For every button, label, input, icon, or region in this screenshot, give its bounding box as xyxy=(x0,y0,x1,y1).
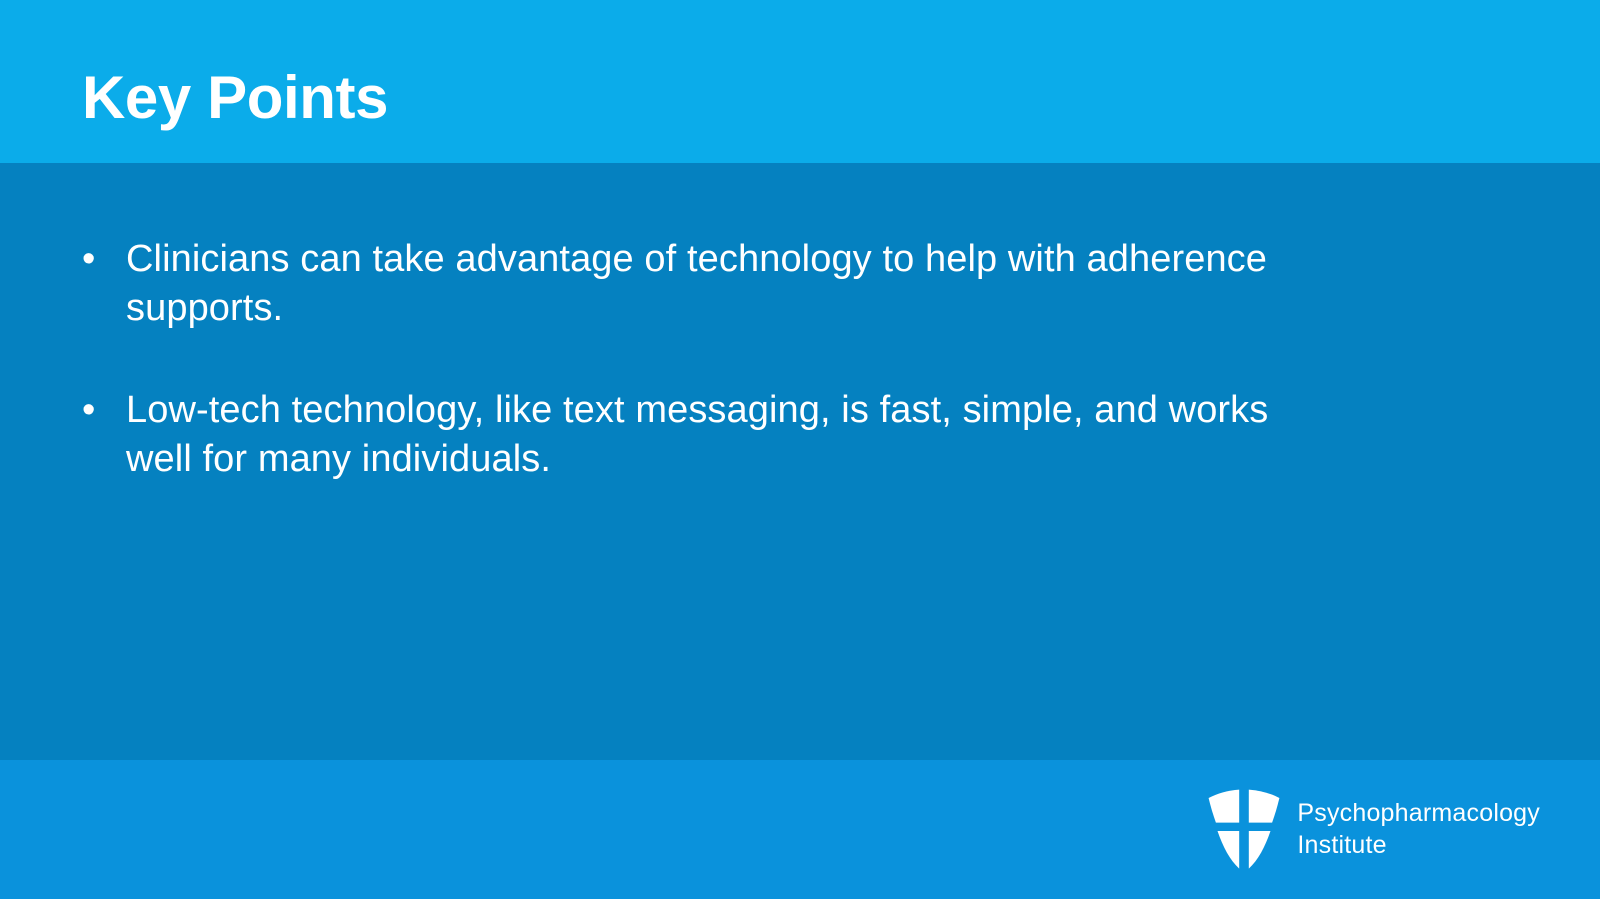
slide-footer: Psychopharmacology Institute xyxy=(0,760,1600,899)
brand-name-line-1: Psychopharmacology xyxy=(1297,797,1540,829)
slide-header: Key Points xyxy=(0,0,1600,163)
page-title: Key Points xyxy=(82,68,388,128)
list-item: • Clinicians can take advantage of techn… xyxy=(0,235,1320,333)
list-item: • Low-tech technology, like text messagi… xyxy=(0,386,1320,484)
bullet-point-icon: • xyxy=(82,235,126,284)
slide: Key Points • Clinicians can take advanta… xyxy=(0,0,1600,899)
brand-name: Psychopharmacology Institute xyxy=(1297,797,1540,861)
bullet-point-icon: • xyxy=(82,386,126,435)
brand-name-line-2: Institute xyxy=(1297,829,1540,861)
brand-logo: Psychopharmacology Institute xyxy=(1207,786,1540,872)
slide-body: • Clinicians can take advantage of techn… xyxy=(0,163,1600,760)
key-points-list: • Clinicians can take advantage of techn… xyxy=(0,235,1320,484)
list-item-label: Low-tech technology, like text messaging… xyxy=(126,386,1276,484)
list-item-label: Clinicians can take advantage of technol… xyxy=(126,235,1276,333)
shield-logo-icon xyxy=(1207,786,1281,872)
